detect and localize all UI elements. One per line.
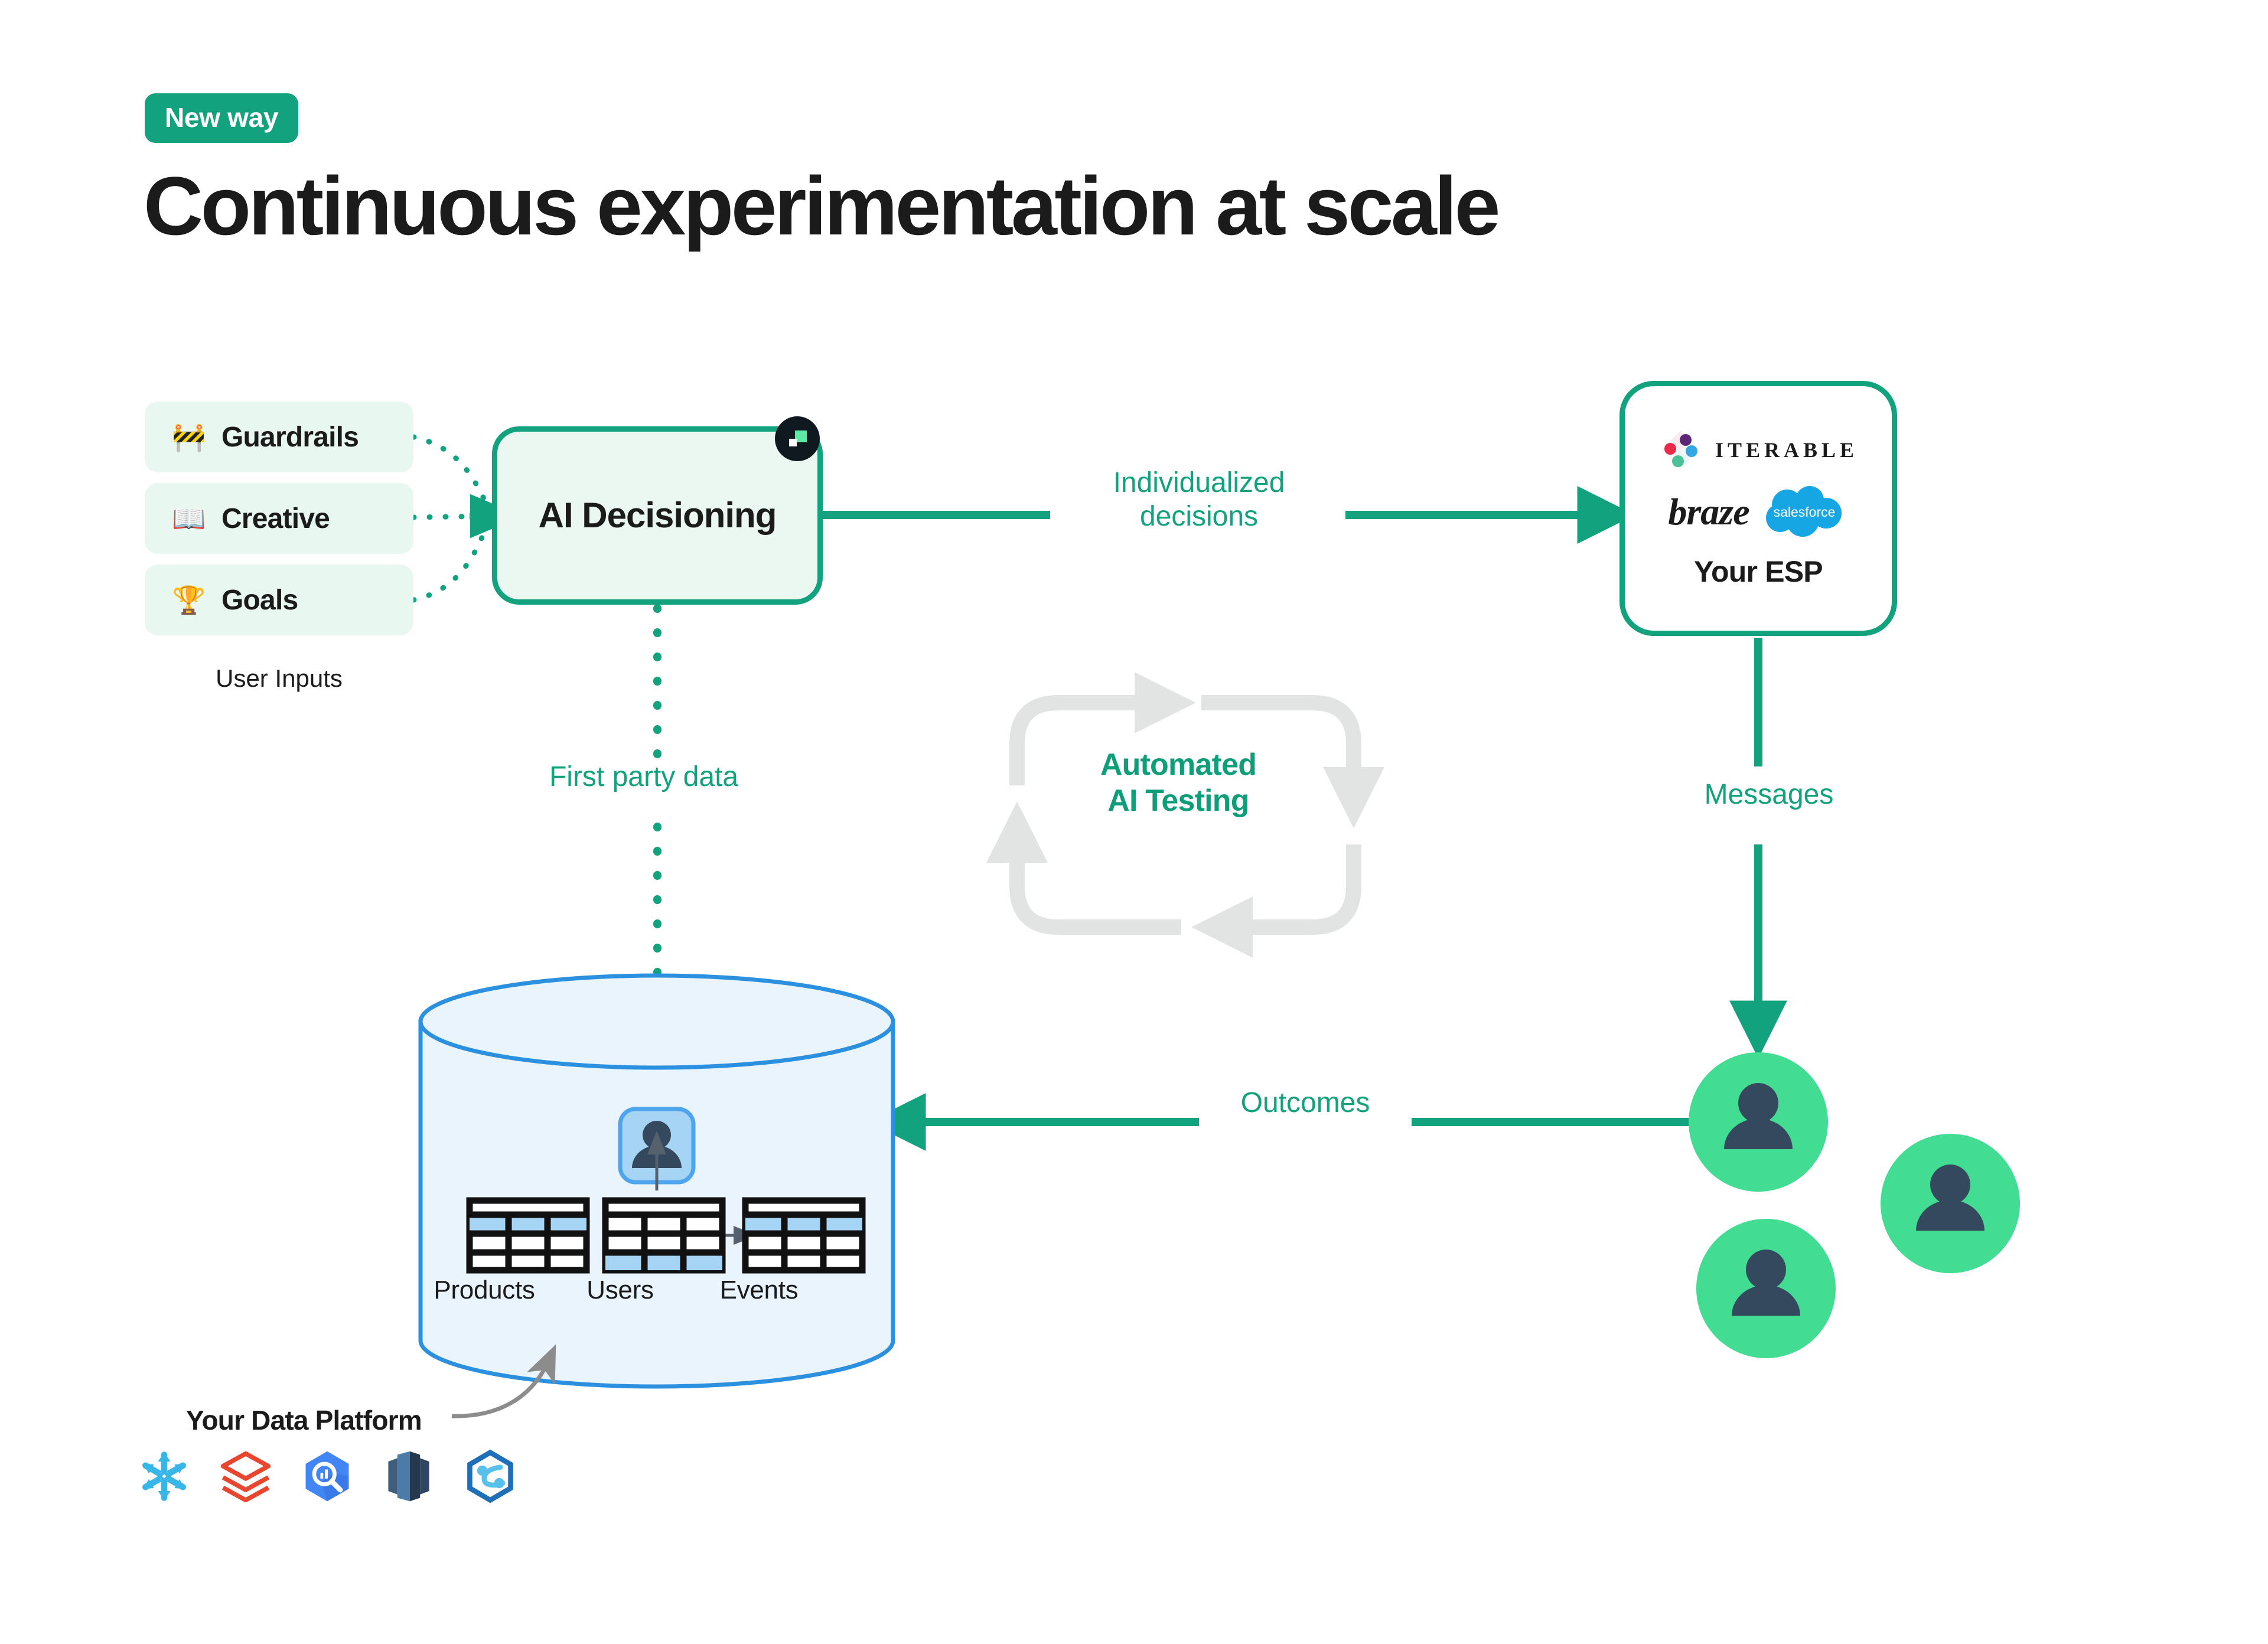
iterable-logo-row: ITERABLE: [1658, 428, 1858, 472]
input-chip-goals[interactable]: 🏆 Goals: [145, 565, 413, 635]
new-way-badge: New way: [145, 93, 298, 143]
database-cylinder: [421, 976, 893, 1387]
first-party-data-endpoint: [651, 981, 664, 994]
data-platform-pointer-arrow: [452, 1359, 549, 1416]
table-icon-products: [470, 1201, 586, 1270]
table-label-events: Events: [664, 1276, 853, 1305]
diagram-canvas: New way Continuous experimentation at sc…: [0, 0, 2268, 1644]
table-icon-events: [745, 1201, 862, 1270]
db-profile-tile: [620, 1109, 693, 1182]
ai-decisioning-label: AI Decisioning: [539, 495, 777, 535]
person-circle: [1881, 1134, 2020, 1273]
braze-wordmark: braze: [1668, 490, 1749, 534]
braze-salesforce-row: braze salesforce: [1668, 484, 1848, 540]
label-first-party-data: First party data: [505, 761, 783, 794]
input-chip-label: Guardrails: [221, 421, 359, 454]
table-icon-users: [605, 1201, 722, 1270]
your-data-platform-label: Your Data Platform: [186, 1404, 422, 1436]
input-chip-label: Creative: [221, 503, 330, 535]
databricks-logo-icon: [217, 1448, 274, 1505]
your-esp-node[interactable]: ITERABLE braze salesforce Your ESP: [1619, 381, 1897, 636]
input-chip-guardrails[interactable]: 🚧 Guardrails: [145, 402, 413, 472]
amplitude-logo-icon: [775, 416, 820, 461]
user-inputs-caption: User Inputs: [145, 664, 413, 693]
input-chip-creative[interactable]: 📖 Creative: [145, 483, 413, 554]
bigquery-logo-icon: [299, 1448, 356, 1505]
your-esp-caption: Your ESP: [1694, 554, 1823, 589]
data-platform-logos: [136, 1448, 519, 1505]
construction-barrier-icon: 🚧: [172, 423, 204, 451]
label-automated-ai-testing: Automated AI Testing: [1069, 747, 1288, 820]
iterable-wordmark: ITERABLE: [1715, 438, 1858, 462]
ai-decisioning-node[interactable]: AI Decisioning: [492, 426, 823, 605]
trophy-icon: 🏆: [172, 586, 204, 614]
person-circle: [1696, 1219, 1836, 1358]
input-chip-label: Goals: [221, 584, 298, 616]
synapse-logo-icon: [462, 1448, 519, 1505]
person-circle: [1689, 1052, 1828, 1192]
audience-people: [1689, 1052, 2020, 1358]
label-outcomes: Outcomes: [1208, 1087, 1403, 1120]
page-title: Continuous experimentation at scale: [144, 161, 1498, 252]
salesforce-logo-icon: salesforce: [1760, 484, 1849, 540]
redshift-logo-icon: [380, 1448, 437, 1505]
snowflake-logo-icon: [136, 1448, 193, 1505]
svg-text:salesforce: salesforce: [1773, 504, 1835, 520]
open-book-icon: 📖: [172, 505, 204, 532]
label-messages: Messages: [1666, 778, 1872, 812]
label-individualized-decisions: Individualized decisions: [1057, 467, 1341, 533]
iterable-logo-icon: [1658, 428, 1702, 472]
input-connectors: [413, 437, 492, 600]
